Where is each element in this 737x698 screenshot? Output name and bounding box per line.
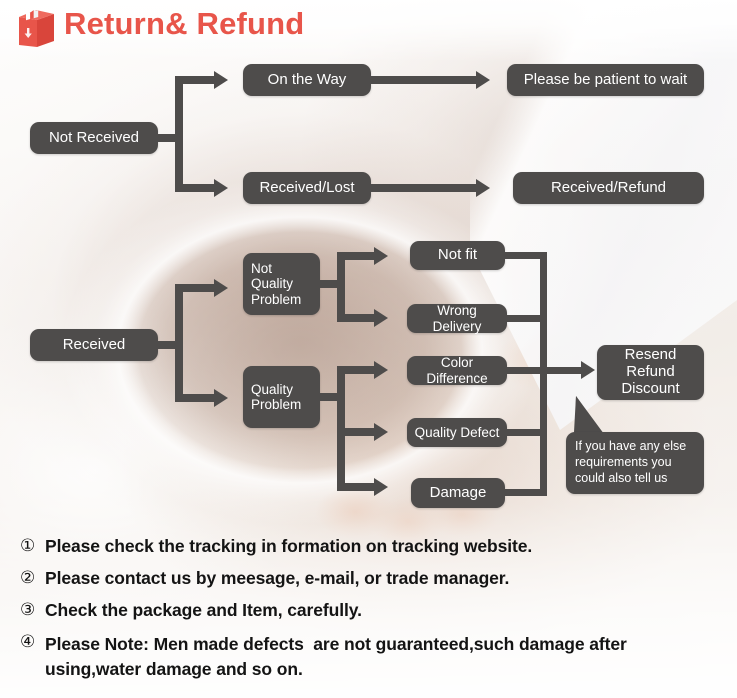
connector-to-received-lost (175, 184, 217, 192)
connector-not-received-spine (175, 76, 183, 192)
node-resolution[interactable]: Resend Refund Discount (597, 345, 704, 400)
arrow-to-quality-defect (374, 423, 388, 441)
arrow-to-on-the-way (214, 71, 228, 89)
arrow-to-resolution (581, 361, 595, 379)
arrow-to-damage (374, 478, 388, 496)
connector-not-quality-spine (337, 252, 345, 322)
note-text-2: Please contact us by meesage, e-mail, or… (45, 568, 509, 589)
callout-extra-requirements[interactable]: If you have any else requirements you co… (566, 432, 704, 494)
connector-collector-spine (540, 252, 547, 496)
note-text-4: Please Note: Men made defects are not gu… (45, 632, 720, 682)
note-number-3: ③ (20, 600, 45, 620)
arrow-to-not-fit (374, 247, 388, 265)
note-item-4: ④ Please Note: Men made defects are not … (20, 632, 720, 682)
connector-to-on-the-way (175, 76, 217, 84)
note-item-2: ② Please contact us by meesage, e-mail, … (20, 568, 509, 589)
note-number-1: ① (20, 536, 45, 556)
arrow-to-received-lost (214, 179, 228, 197)
connector-to-resolution (540, 367, 585, 374)
connector-to-quality-defect (337, 428, 377, 436)
node-color-difference[interactable]: Color Difference (407, 356, 507, 385)
node-on-the-way[interactable]: On the Way (243, 64, 371, 96)
arrow-on-the-way-to-wait (476, 71, 490, 89)
connector-received-spine (175, 284, 183, 402)
node-received-lost[interactable]: Received/Lost (243, 172, 371, 204)
connector-received-lost-to-refund (371, 184, 481, 192)
arrow-to-not-quality (214, 279, 228, 297)
connector-on-the-way-to-wait (371, 76, 481, 84)
flowchart: Not Received On the Way Received/Lost Pl… (0, 0, 737, 525)
notes-list: ① Please check the tracking in formation… (0, 528, 737, 698)
return-refund-infographic: Return& Refund Not Received On the Way R… (0, 0, 737, 698)
note-text-1: Please check the tracking in formation o… (45, 536, 532, 557)
note-number-4: ④ (20, 632, 45, 652)
node-quality-defect[interactable]: Quality Defect (407, 418, 507, 447)
connector-to-not-fit (337, 252, 377, 260)
connector-to-color-difference (337, 366, 377, 374)
node-wrong-delivery[interactable]: Wrong Delivery (407, 304, 507, 333)
connector-to-wrong-delivery (337, 314, 377, 322)
arrow-to-quality (214, 389, 228, 407)
note-number-2: ② (20, 568, 45, 588)
arrow-to-color-difference (374, 361, 388, 379)
connector-to-not-quality (175, 284, 217, 292)
node-not-quality-problem[interactable]: Not Quality Problem (243, 253, 320, 315)
node-not-received[interactable]: Not Received (30, 122, 158, 154)
node-received-refund[interactable]: Received/Refund (513, 172, 704, 204)
note-text-3: Check the package and Item, carefully. (45, 600, 362, 621)
note-item-1: ① Please check the tracking in formation… (20, 536, 532, 557)
node-not-fit[interactable]: Not fit (410, 241, 505, 270)
arrow-to-wrong-delivery (374, 309, 388, 327)
node-quality-problem[interactable]: Quality Problem (243, 366, 320, 428)
note-item-3: ③ Check the package and Item, carefully. (20, 600, 362, 621)
node-received[interactable]: Received (30, 329, 158, 361)
connector-to-damage (337, 483, 377, 491)
node-please-be-patient[interactable]: Please be patient to wait (507, 64, 704, 96)
node-damage[interactable]: Damage (411, 478, 505, 508)
connector-to-quality (175, 394, 217, 402)
arrow-received-lost-to-refund (476, 179, 490, 197)
